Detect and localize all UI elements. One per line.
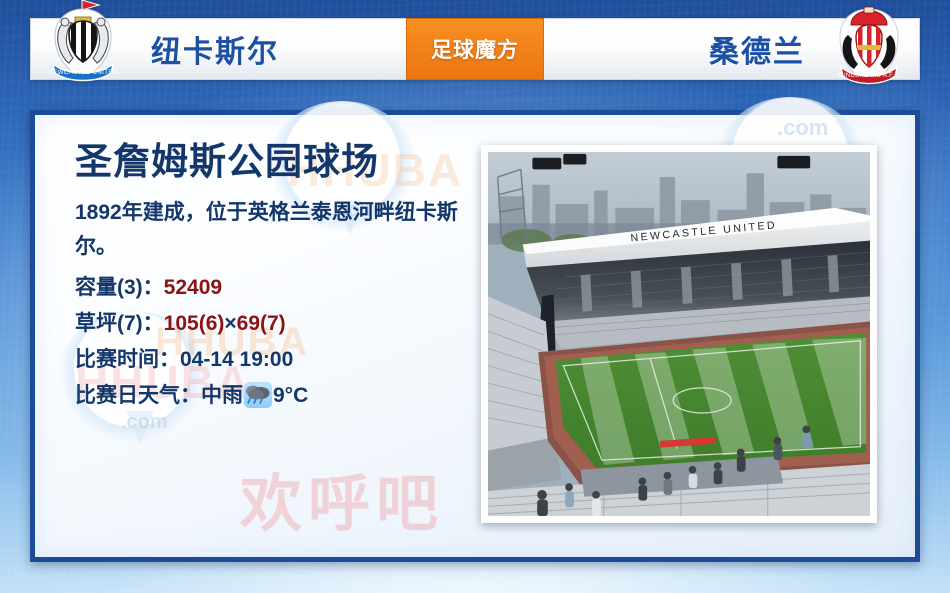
capacity-row: 容量(3)：52409: [75, 270, 495, 306]
newcastle-united-crest: NEWCASTLE UNITED: [45, 0, 121, 84]
rain-cloud-icon: [244, 382, 272, 408]
away-team-block[interactable]: 桑德兰: [544, 18, 920, 80]
svg-text:NEWCASTLE UNITED: NEWCASTLE UNITED: [48, 69, 118, 76]
stadium-details: 圣詹姆斯公园球场 1892年建成，位于英格兰泰恩河畔纽卡斯尔。 容量(3)：52…: [75, 141, 495, 414]
watermark-dotcom-left: .com: [121, 411, 168, 434]
capacity-label: 容量(3)：: [75, 276, 164, 299]
match-time-row: 比赛时间：04-14 19:00: [75, 342, 495, 378]
weather-condition: 中雨: [201, 384, 243, 407]
stadium-info-panel: HHUBA .com HHUBA .com .com HHUBA 欢呼吧 圣詹姆…: [30, 110, 920, 562]
temperature-value: 9°C: [273, 384, 308, 407]
pitch-label: 草坪(7)：: [75, 312, 164, 335]
site-logo[interactable]: 足球魔方: [406, 18, 544, 80]
stadium-title: 圣詹姆斯公园球场: [75, 141, 495, 184]
stadium-photo: NEWCASTLE UNITED: [488, 152, 870, 516]
pitch-row: 草坪(7)：105(6)×69(7): [75, 306, 495, 342]
pitch-separator: ×: [224, 312, 236, 335]
watermark-cn-word: 欢呼吧: [240, 453, 444, 543]
match-header: NEWCASTLE UNITED 纽卡斯尔 足球魔方 桑德兰: [30, 18, 920, 80]
weather-row: 比赛日天气：中雨 9°C: [75, 378, 495, 414]
match-time-label: 比赛时间：: [75, 348, 180, 371]
stadium-description: 1892年建成，位于英格兰泰恩河畔纽卡斯尔。: [75, 196, 495, 264]
pitch-width: 69(7): [237, 312, 286, 335]
match-time-value: 04-14 19:00: [180, 348, 293, 371]
home-team-name: 纽卡斯尔: [151, 27, 279, 71]
watermark-dotcom-right: .com: [777, 115, 828, 141]
home-team-block[interactable]: NEWCASTLE UNITED 纽卡斯尔: [30, 18, 406, 80]
svg-text:SUNDERLAND A.F.C.: SUNDERLAND A.F.C.: [837, 73, 901, 79]
site-logo-text: 足球魔方: [431, 34, 519, 64]
capacity-value: 52409: [164, 276, 222, 299]
weather-label: 比赛日天气：: [75, 384, 201, 407]
sunderland-afc-crest: SUNDERLAND A.F.C.: [831, 1, 907, 89]
stadium-photo-frame: NEWCASTLE UNITED: [481, 145, 877, 523]
away-team-name: 桑德兰: [709, 27, 805, 71]
pitch-length: 105(6): [164, 312, 225, 335]
